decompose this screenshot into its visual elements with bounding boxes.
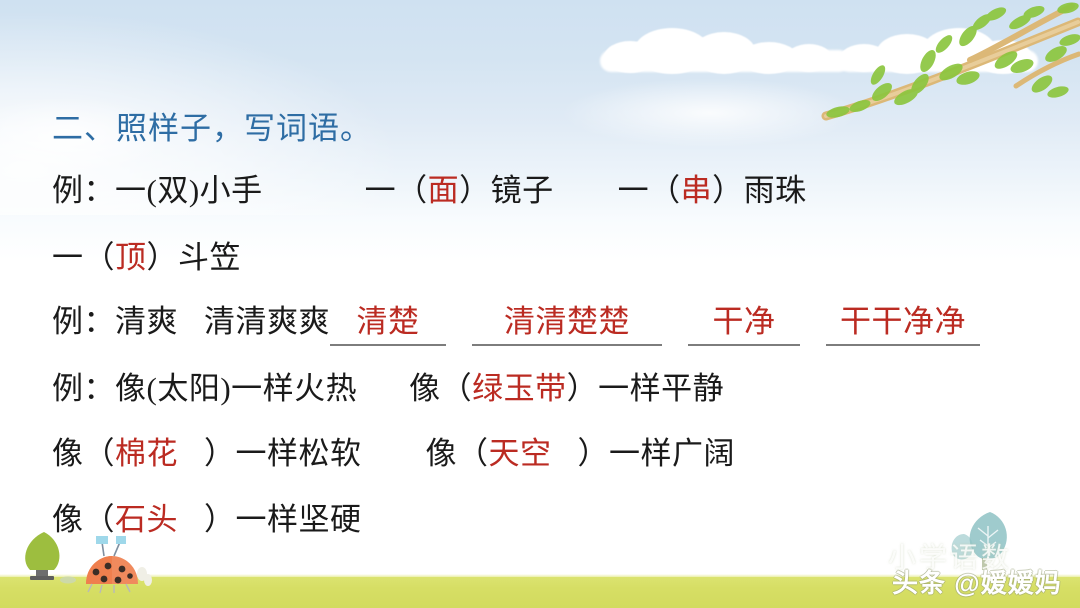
reduplication-answer-4[interactable]: 干干净净 xyxy=(826,296,980,346)
quantifier-3-pre: 一（ xyxy=(618,173,681,208)
simile-row-3: 像（石头）一样坚硬 xyxy=(52,494,362,539)
reduplication-answer-1[interactable]: 清楚 xyxy=(330,296,446,346)
quantifier-row-2: 一（顶）斗笠 xyxy=(52,232,241,277)
quantifier-4-pre: 一（ xyxy=(52,240,115,275)
page-title: 二、照样子，写词语。 xyxy=(52,103,372,148)
quantifier-2-post: ）镜子 xyxy=(459,173,554,208)
quantifier-row-1: 例：一(双)小手一（面）镜子一（串）雨珠 xyxy=(52,165,807,210)
quantifier-3-post: ）雨珠 xyxy=(712,173,807,208)
exercise-content: 二、照样子，写词语。 例：一(双)小手一（面）镜子一（串）雨珠 一（顶）斗笠 例… xyxy=(0,0,1080,608)
quantifier-2-answer[interactable]: 面 xyxy=(428,173,460,208)
reduplication-given-2: 清清爽爽 xyxy=(204,304,330,339)
reduplication-example-label: 例： xyxy=(52,304,115,339)
simile-1-answer[interactable]: 绿玉带 xyxy=(472,371,567,406)
reduplication-answer-3[interactable]: 干净 xyxy=(688,296,800,346)
simile-4-post: ）一样坚硬 xyxy=(204,502,362,537)
simile-2-post: ）一样松软 xyxy=(204,436,362,471)
simile-4-pre: 像（ xyxy=(52,502,115,537)
simile-2-answer[interactable]: 棉花 xyxy=(115,436,178,471)
reduplication-row: 例：清爽清清爽爽清楚清清楚楚干净干干净净 xyxy=(52,296,980,346)
simile-example-label: 例： xyxy=(52,371,115,406)
reduplication-given-1: 清爽 xyxy=(115,304,178,339)
simile-4-answer[interactable]: 石头 xyxy=(115,502,178,537)
simile-example-phrase: 像(太阳)一样火热 xyxy=(115,371,357,406)
simile-3-pre: 像（ xyxy=(426,436,489,471)
simile-3-answer[interactable]: 天空 xyxy=(489,436,552,471)
simile-3-post: ）一样广阔 xyxy=(578,436,736,471)
simile-1-pre: 像（ xyxy=(409,371,472,406)
example-phrase: 一(双)小手 xyxy=(115,173,263,208)
quantifier-2-pre: 一（ xyxy=(365,173,428,208)
slide-canvas: 二、照样子，写词语。 例：一(双)小手一（面）镜子一（串）雨珠 一（顶）斗笠 例… xyxy=(0,0,1080,608)
simile-2-pre: 像（ xyxy=(52,436,115,471)
quantifier-4-answer[interactable]: 顶 xyxy=(115,240,147,275)
simile-1-post: ）一样平静 xyxy=(567,371,725,406)
example-label: 例： xyxy=(52,173,115,208)
watermark-main-text: 头条 @嫒嫒妈 xyxy=(892,563,1062,600)
quantifier-3-answer[interactable]: 串 xyxy=(681,173,713,208)
quantifier-4-post: ）斗笠 xyxy=(147,240,242,275)
reduplication-answer-2[interactable]: 清清楚楚 xyxy=(472,296,662,346)
simile-row-1: 例：像(太阳)一样火热像（绿玉带）一样平静 xyxy=(52,363,724,408)
simile-row-2: 像（棉花）一样松软像（天空）一样广阔 xyxy=(52,428,735,473)
